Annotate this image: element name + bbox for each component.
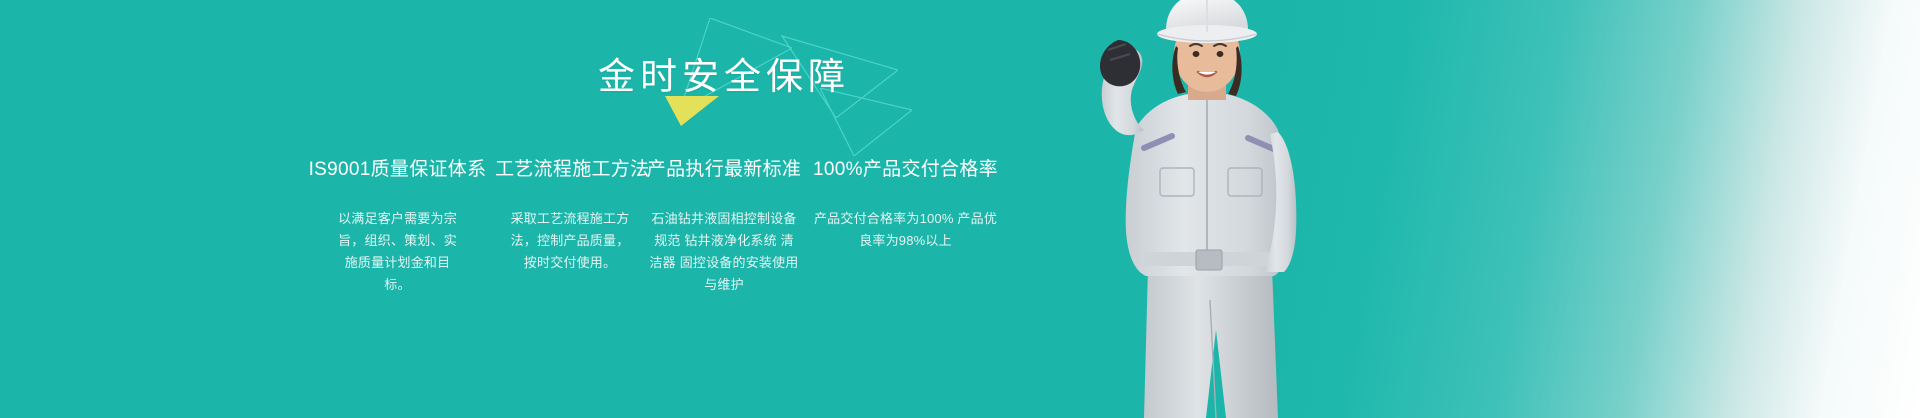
- feature-columns: IS9001质量保证体系 以满足客户需要为宗旨，组织、策划、实施质量计划金和目标…: [300, 158, 1045, 296]
- feature-heading: 100%产品交付合格率: [803, 158, 1008, 182]
- feature-heading: 产品执行最新标准: [645, 158, 803, 182]
- feature-heading: 工艺流程施工方法: [495, 158, 645, 182]
- feature-heading: IS9001质量保证体系: [300, 158, 495, 182]
- worker-photo: [1040, 0, 1370, 418]
- feature-column: IS9001质量保证体系 以满足客户需要为宗旨，组织、策划、实施质量计划金和目标…: [300, 158, 495, 296]
- banner-title: 金时安全保障: [598, 55, 858, 99]
- feature-body: 产品交付合格率为100% 产品优良率为98%以上: [803, 208, 1008, 252]
- feature-body: 石油钻井液固相控制设备规范 钻井液净化系统 清洁器 固控设备的安装使用与维护: [645, 208, 803, 296]
- feature-column: 100%产品交付合格率 产品交付合格率为100% 产品优良率为98%以上: [803, 158, 1008, 252]
- feature-body: 采取工艺流程施工方法，控制产品质量，按时交付使用。: [495, 208, 645, 274]
- feature-body: 以满足客户需要为宗旨，组织、策划、实施质量计划金和目标。: [300, 208, 495, 296]
- feature-column: 工艺流程施工方法 采取工艺流程施工方法，控制产品质量，按时交付使用。: [495, 158, 645, 274]
- safety-banner: 金时安全保障 IS9001质量保证体系 以满足客户需要为宗旨，组织、策划、实施质…: [0, 0, 1920, 418]
- triangle-yellow-icon: [665, 96, 719, 126]
- right-gradient-wash: [1280, 0, 1920, 418]
- feature-column: 产品执行最新标准 石油钻井液固相控制设备规范 钻井液净化系统 清洁器 固控设备的…: [645, 158, 803, 296]
